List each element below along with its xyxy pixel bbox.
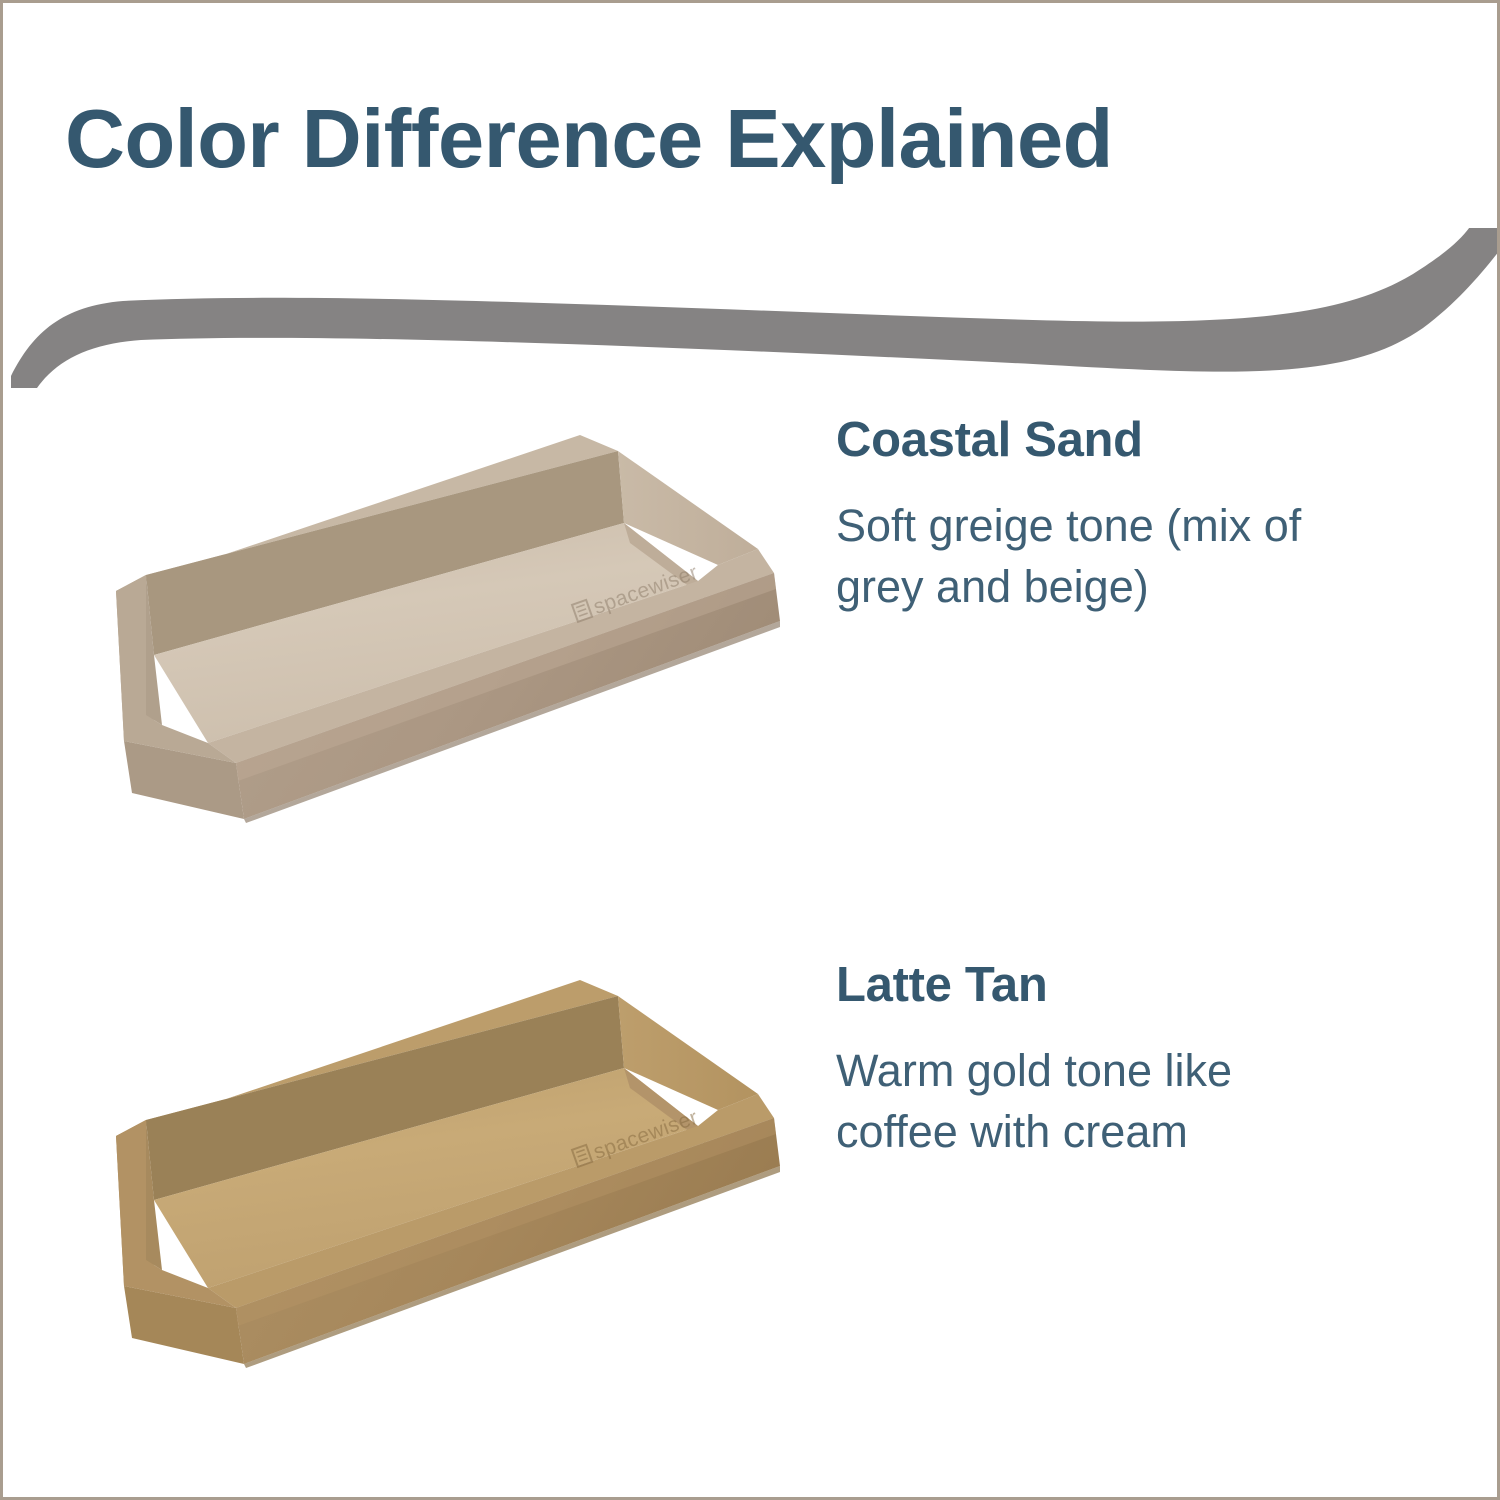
tray-illustration: spacewiser	[58, 968, 788, 1368]
product-image-coastal-sand: spacewiser	[58, 423, 788, 823]
color-description: Warm gold tone like coffee with cream	[836, 1041, 1306, 1163]
tray-illustration: spacewiser	[58, 423, 788, 823]
color-description: Soft greige tone (mix of grey and beige)	[836, 496, 1306, 618]
page-title: Color Difference Explained	[65, 95, 1425, 182]
color-item-text-coastal-sand: Coastal Sand Soft greige tone (mix of gr…	[836, 413, 1366, 617]
swoosh-divider-icon	[3, 228, 1500, 388]
color-item-row: spacewiser Coastal Sand Soft greige tone…	[3, 413, 1500, 853]
swoosh-divider	[3, 228, 1500, 388]
color-item-text-latte-tan: Latte Tan Warm gold tone like coffee wit…	[836, 958, 1366, 1162]
color-item-row: spacewiser Latte Tan Warm gold tone like…	[3, 958, 1500, 1398]
product-image-latte-tan: spacewiser	[58, 968, 788, 1368]
infographic-canvas: Color Difference Explained	[0, 0, 1500, 1500]
color-name-heading: Coastal Sand	[836, 413, 1366, 468]
color-name-heading: Latte Tan	[836, 958, 1366, 1013]
